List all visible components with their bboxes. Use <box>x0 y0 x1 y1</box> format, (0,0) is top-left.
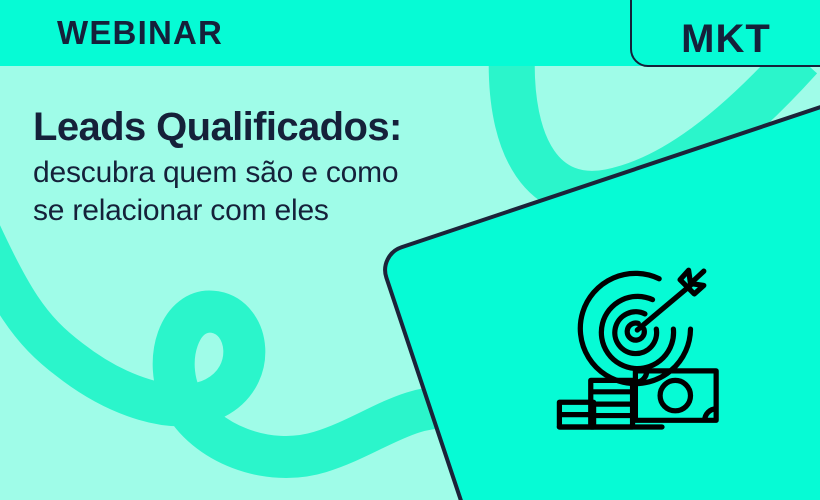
banknote-center-circle <box>660 380 690 410</box>
page-title: Leads Qualificados: <box>33 105 553 150</box>
page-subtitle-line-1: descubra quem são e como <box>33 154 553 192</box>
mkt-badge: MKT <box>630 0 820 67</box>
webinar-banner: WEBINAR MKT Leads Qualificados: descubra… <box>0 0 820 500</box>
coin-stack-tall-lines <box>591 392 633 416</box>
target-arrow-money-icon <box>548 255 738 445</box>
page-subtitle-line-2: se relacionar com eles <box>33 192 553 230</box>
arrow-fletch-tip <box>691 271 704 283</box>
header-label: WEBINAR <box>57 14 223 52</box>
arrow-shaft <box>637 285 690 330</box>
mkt-badge-label: MKT <box>632 19 820 59</box>
title-block: Leads Qualificados: descubra quem são e … <box>33 105 553 230</box>
